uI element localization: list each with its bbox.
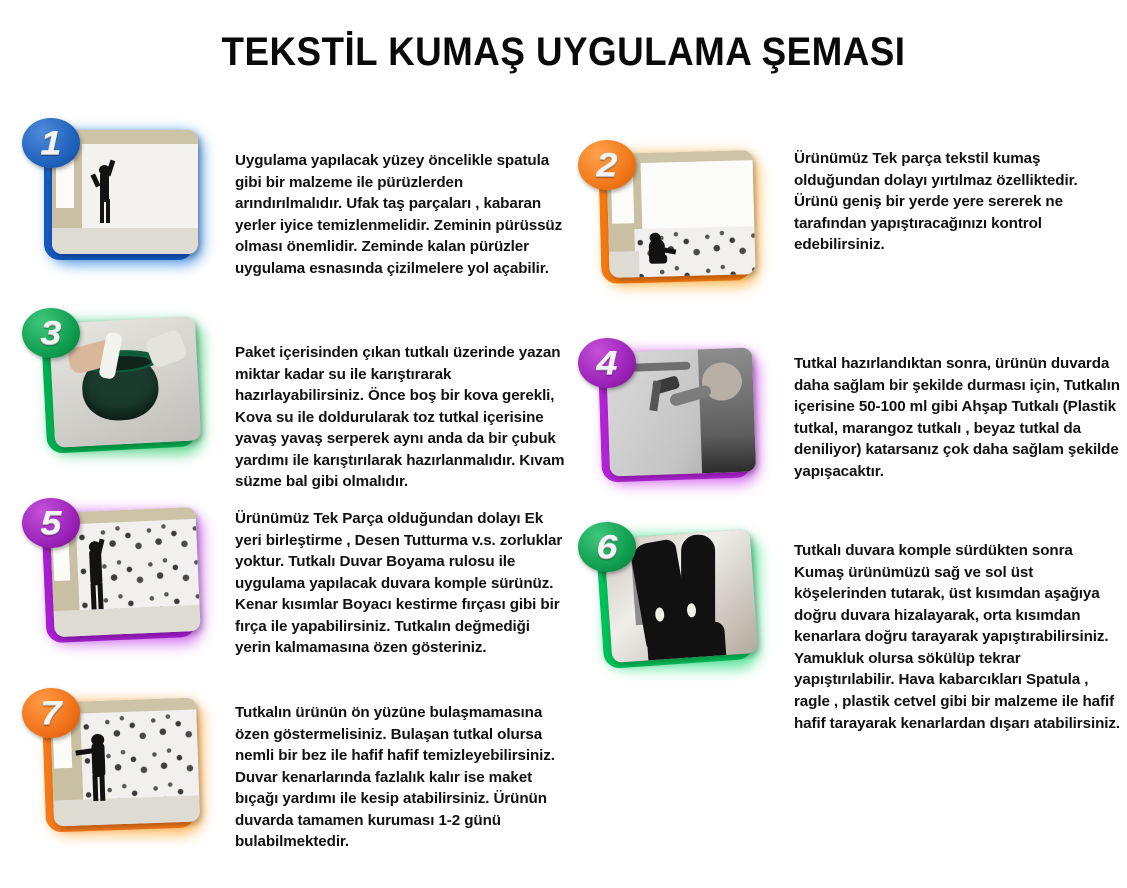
step-1-number: 1 (18, 118, 85, 168)
step-1-badge: 1 (22, 118, 80, 170)
step-6-text: Tutkalı duvara komple sürdükten sonra Ku… (794, 540, 1124, 734)
step-3-badge: 3 (22, 308, 80, 360)
step-4-badge: 4 (578, 338, 636, 390)
step-2-number: 2 (574, 140, 641, 190)
step-2-text: Ürünümüz Tek parça tekstil kumaş olduğun… (794, 148, 1124, 256)
step-5-number: 5 (18, 498, 85, 548)
step-3-text: Paket içerisinden çıkan tutkalı üzerinde… (235, 342, 565, 493)
step-7-media: 7 (22, 688, 207, 853)
step-2-media: 2 (578, 140, 763, 305)
step-4-text: Tutkal hazırlandıktan sonra, ürünün duva… (794, 353, 1124, 482)
step-7-badge: 7 (22, 688, 80, 740)
step-6-badge: 6 (578, 522, 636, 574)
step-6-media: 6 (578, 522, 763, 687)
step-4-number: 4 (574, 338, 641, 388)
page-title: TEKSTİL KUMAŞ UYGULAMA ŞEMASI (45, 30, 1082, 75)
step-6-number: 6 (574, 522, 641, 572)
step-5-badge: 5 (22, 498, 80, 550)
step-4-media: 4 (578, 338, 763, 503)
step-3-media: 3 (22, 308, 207, 473)
step-1-media: 1 (22, 118, 207, 283)
step-7-number: 7 (18, 688, 85, 738)
step-1-text: Uygulama yapılacak yüzey öncelikle spatu… (235, 150, 565, 279)
step-2-badge: 2 (578, 140, 636, 192)
step-5-media: 5 (22, 498, 207, 663)
step-7-text: Tutkalın ürünün ön yüzüne bulaşmamasına … (235, 702, 565, 853)
step-3-number: 3 (18, 308, 85, 358)
step-5-text: Ürünümüz Tek Parça olduğundan dolayı Ek … (235, 508, 565, 659)
